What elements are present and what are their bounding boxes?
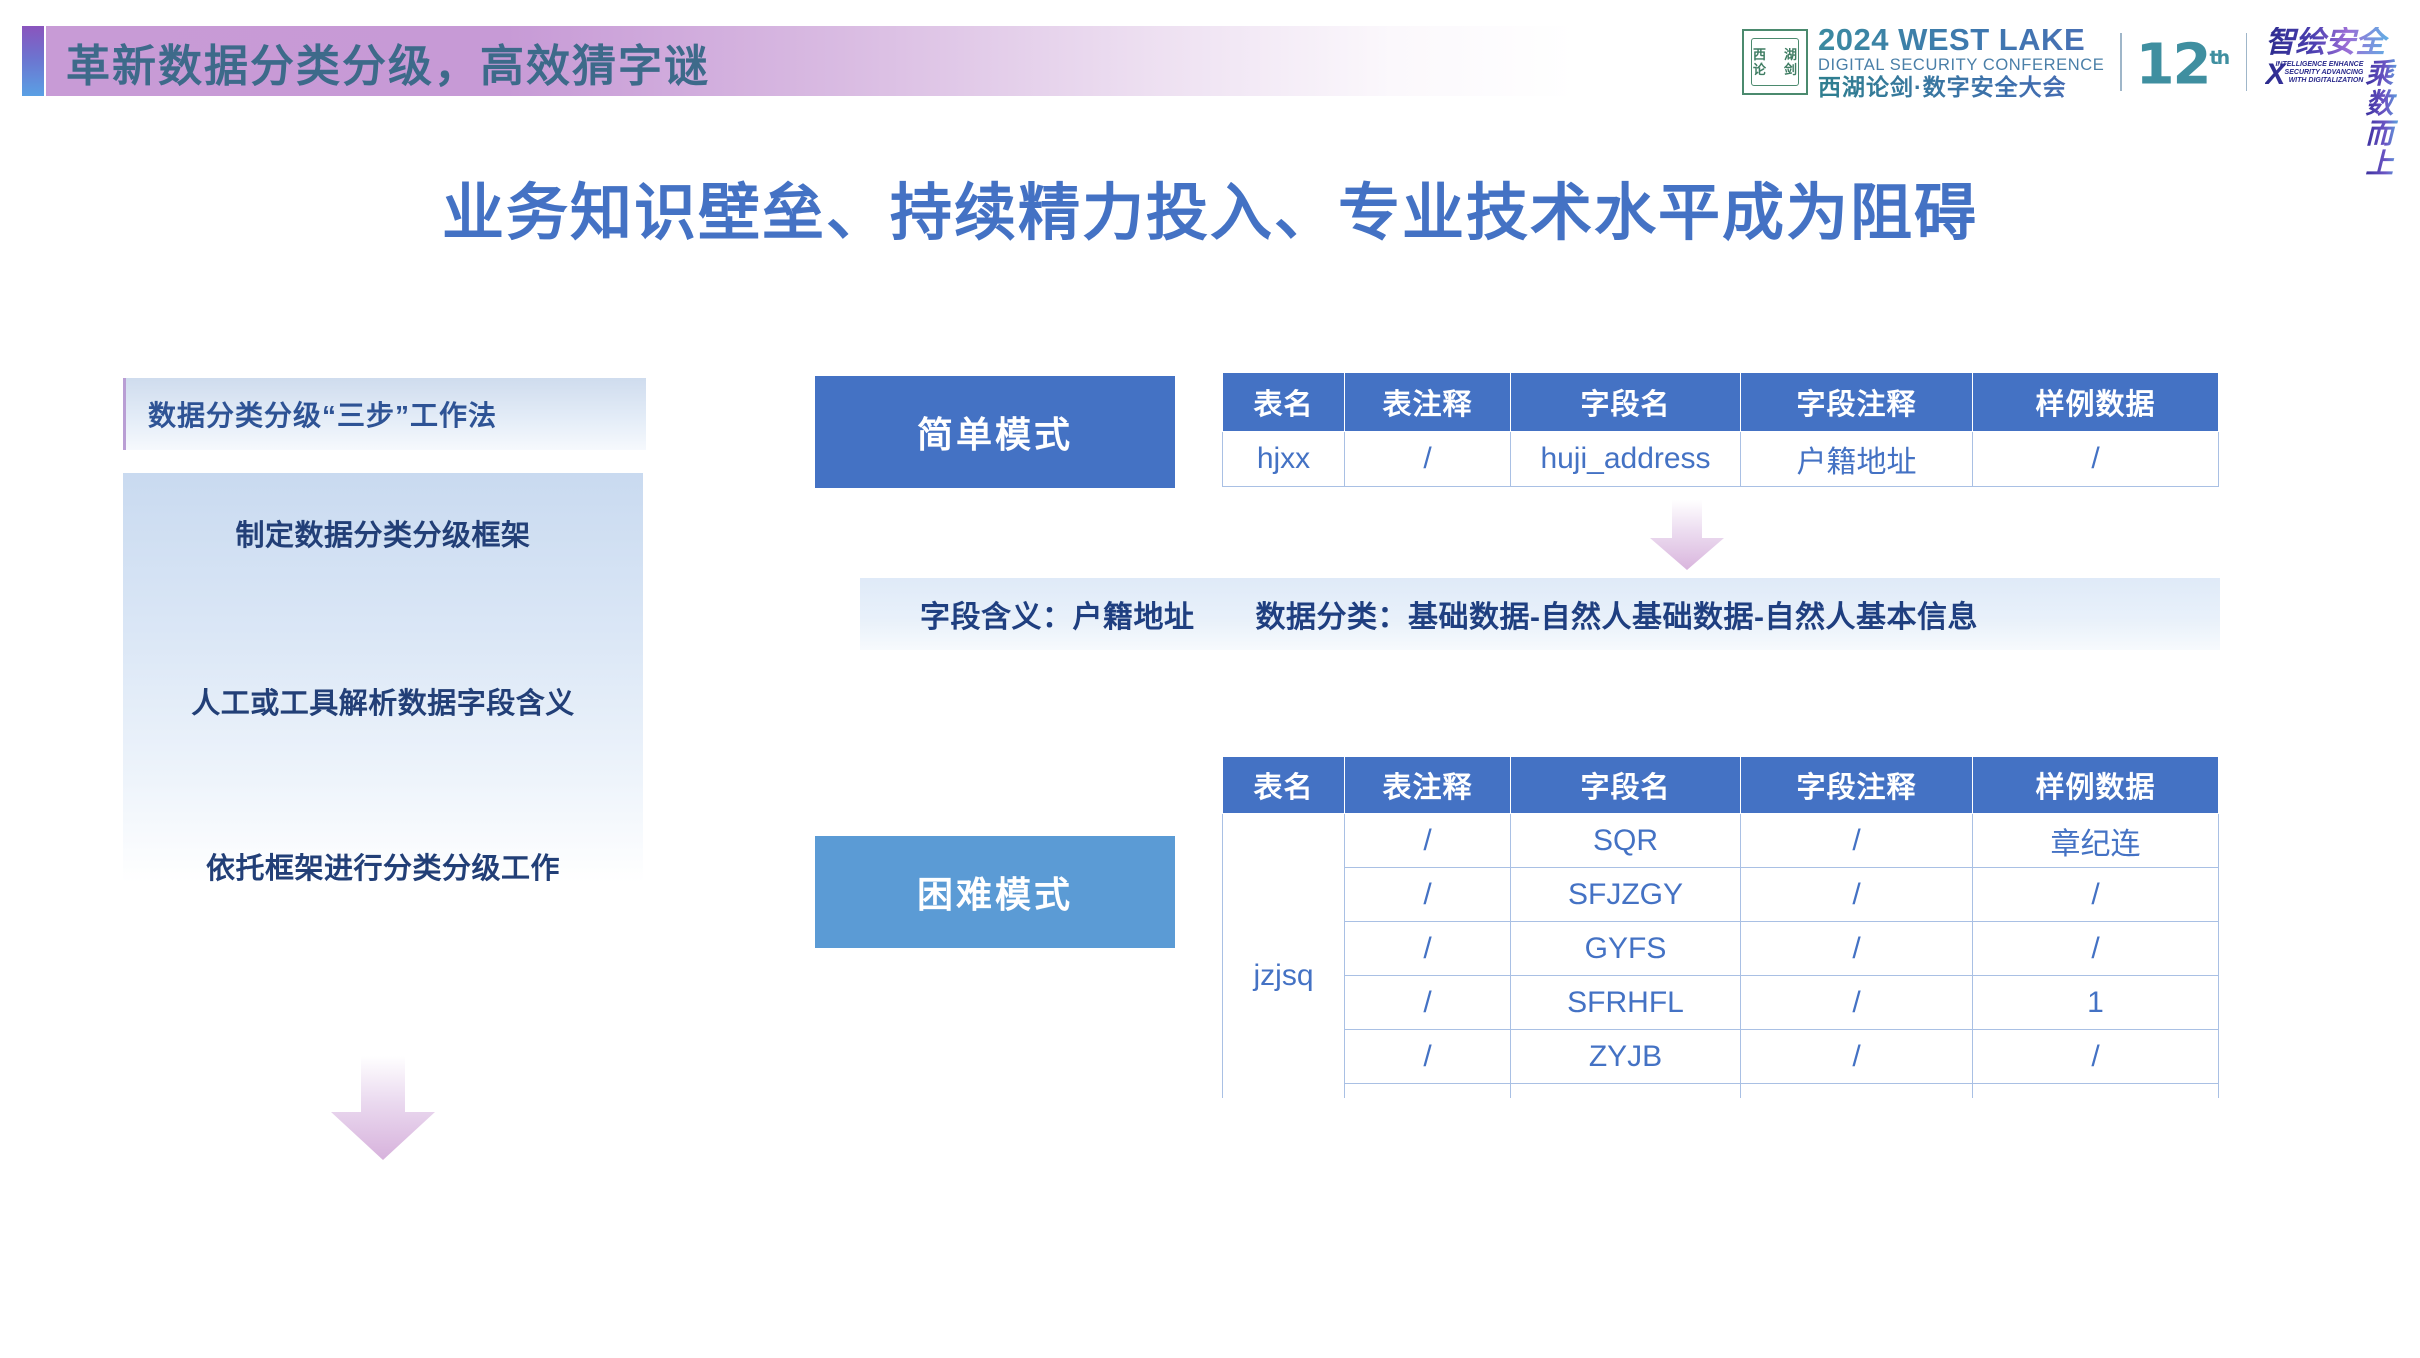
cell-sample-data: 1 [1973,976,2219,1030]
cell-sample-data: / [1973,1030,2219,1084]
logo-divider [2246,33,2247,91]
cell-table-comment: / [1345,432,1511,487]
hard-mode-table: 表名 表注释 字段名 字段注释 样例数据 jzjsq / SQR / 章纪连 /… [1222,756,2219,1138]
slide-canvas: 革新数据分类分级，高效猜字谜 西 湖 论 剑 2024 WEST LAKE DI… [0,0,2420,1358]
logo-text-block: 2024 WEST LAKE DIGITAL SECURITY CONFEREN… [1818,24,2104,100]
column-header-table-name: 表名 [1223,373,1345,432]
cell-table-comment: / [1345,976,1511,1030]
cell-sample-data: / [1973,868,2219,922]
table-row: hjxx / huji_address 户籍地址 / [1223,432,2219,487]
column-header-sample-data: 样例数据 [1973,757,2219,814]
column-header-table-comment: 表注释 [1345,373,1511,432]
west-lake-seal-icon: 西 湖 论 剑 [1742,29,1808,95]
cell-sample-data: / [1973,432,2219,487]
cell-field-comment: / [1741,976,1973,1030]
cell-field-name: GYFS [1511,922,1741,976]
page-title: 革新数据分类分级，高效猜字谜 [66,28,710,96]
cell-sample-data: / [1973,922,2219,976]
simple-mode-table: 表名 表注释 字段名 字段注释 样例数据 hjxx / huji_address… [1222,372,2219,487]
cell-field-name: ZYJB [1511,1030,1741,1084]
mode-label-hard: 困难模式 [815,836,1175,948]
cell-table-name: jzjsq [1223,814,1345,1138]
cell-table-name: hjxx [1223,432,1345,487]
cell-field-name: SQR [1511,814,1741,868]
logo-line-chinese: 西湖论剑·数字安全大会 [1818,75,2104,100]
column-header-table-name: 表名 [1223,757,1345,814]
cell-table-comment: / [1345,814,1511,868]
logo-divider [2120,33,2121,91]
column-header-table-comment: 表注释 [1345,757,1511,814]
column-header-sample-data: 样例数据 [1973,373,2219,432]
bottom-decoration [0,1098,2420,1358]
edition-number: 12th [2136,30,2229,94]
result-strip: 字段含义：户籍地址 数据分类：基础数据-自然人基础数据-自然人基本信息 [860,578,2220,650]
cell-field-comment: / [1741,922,1973,976]
cell-table-comment: / [1345,868,1511,922]
column-header-field-comment: 字段注释 [1741,757,1973,814]
main-heading: 业务知识壁垒、持续精力投入、专业技术水平成为阻碍 [0,162,2420,252]
column-header-field-comment: 字段注释 [1741,373,1973,432]
seal-characters: 西 湖 论 剑 [1744,31,1806,93]
flow-step-3: 依托框架进行分类分级工作 [123,845,643,887]
cell-field-comment: / [1741,814,1973,868]
table-header-row: 表名 表注释 字段名 字段注释 样例数据 [1223,757,2219,814]
cell-sample-data: 章纪连 [1973,814,2219,868]
cell-table-comment: / [1345,1030,1511,1084]
cell-field-comment: / [1741,1030,1973,1084]
table-row: / SFRHFL / 1 [1223,976,2219,1030]
cell-field-comment: 户籍地址 [1741,432,1973,487]
brand-sub-text: INTELLIGENCE ENHANCE SECURITY ADVANCING … [2271,61,2363,85]
seal-char: 西 [1744,47,1775,62]
conference-logo: 西 湖 论 剑 2024 WEST LAKE DIGITAL SECURITY … [1742,22,2402,102]
seal-char: 湖 [1775,47,1806,62]
brand-secondary-text: 乘数而上 [2365,59,2402,179]
flow-panel-header: 数据分类分级“三步”工作法 [123,378,646,450]
table-header-row: 表名 表注释 字段名 字段注释 样例数据 [1223,373,2219,432]
brand-logo: 智绘安全 X INTELLIGENCE ENHANCE SECURITY ADV… [2265,27,2402,97]
table-row: / ZYJB / / [1223,1030,2219,1084]
cell-field-comment: / [1741,868,1973,922]
table-row: / GYFS / / [1223,922,2219,976]
column-header-field-name: 字段名 [1511,757,1741,814]
cell-field-name: SFRHFL [1511,976,1741,1030]
table-row: jzjsq / SQR / 章纪连 [1223,814,2219,868]
logo-line-english-main: 2024 WEST LAKE [1818,24,2104,55]
flow-step-1: 制定数据分类分级框架 [123,512,643,554]
mode-label-simple: 简单模式 [815,376,1175,488]
flow-step-2: 人工或工具解析数据字段含义 [123,680,643,722]
seal-char: 剑 [1775,62,1806,77]
table-row: / SFJZGY / / [1223,868,2219,922]
logo-line-english-sub: DIGITAL SECURITY CONFERENCE [1818,55,2104,75]
column-header-field-name: 字段名 [1511,373,1741,432]
flow-panel-header-label: 数据分类分级“三步”工作法 [126,394,497,434]
result-text: 字段含义：户籍地址 数据分类：基础数据-自然人基础数据-自然人基本信息 [860,592,1978,636]
cell-field-name: SFJZGY [1511,868,1741,922]
seal-char: 论 [1744,62,1775,77]
title-accent-bar [22,26,44,96]
edition-number-value: 12 [2136,33,2210,98]
cell-table-comment: / [1345,922,1511,976]
down-arrow-icon [1632,500,1742,572]
edition-suffix: th [2210,47,2229,69]
cell-field-name: huji_address [1511,432,1741,487]
